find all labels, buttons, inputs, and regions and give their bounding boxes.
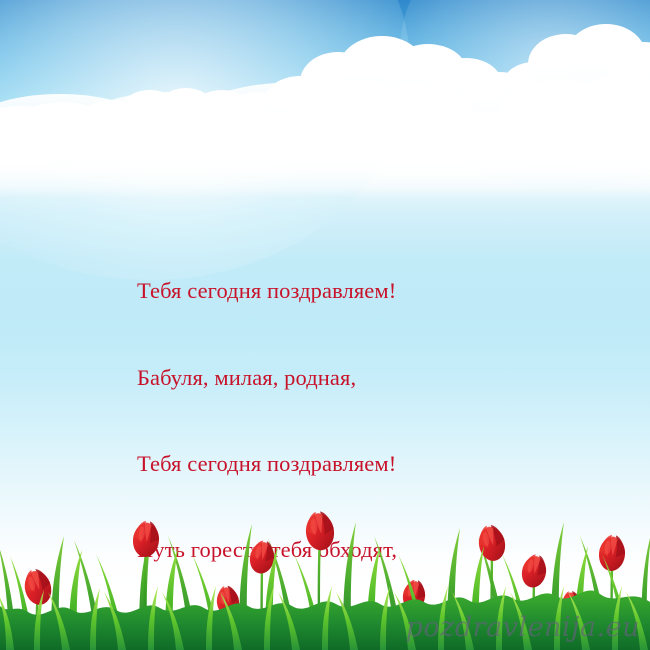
meadow: [0, 510, 650, 650]
poem-line: Тебя сегодня поздравляем!: [137, 277, 557, 306]
meadow-svg: [0, 510, 650, 650]
poem-line: Бабуля, милая, родная,: [137, 364, 557, 393]
poem-line: Тебя сегодня поздравляем!: [137, 450, 557, 479]
greeting-card: Тебя сегодня поздравляем! Бабуля, милая,…: [0, 0, 650, 650]
cloud-main-layer: [0, 24, 650, 166]
cloud-back-layer: [0, 82, 650, 162]
